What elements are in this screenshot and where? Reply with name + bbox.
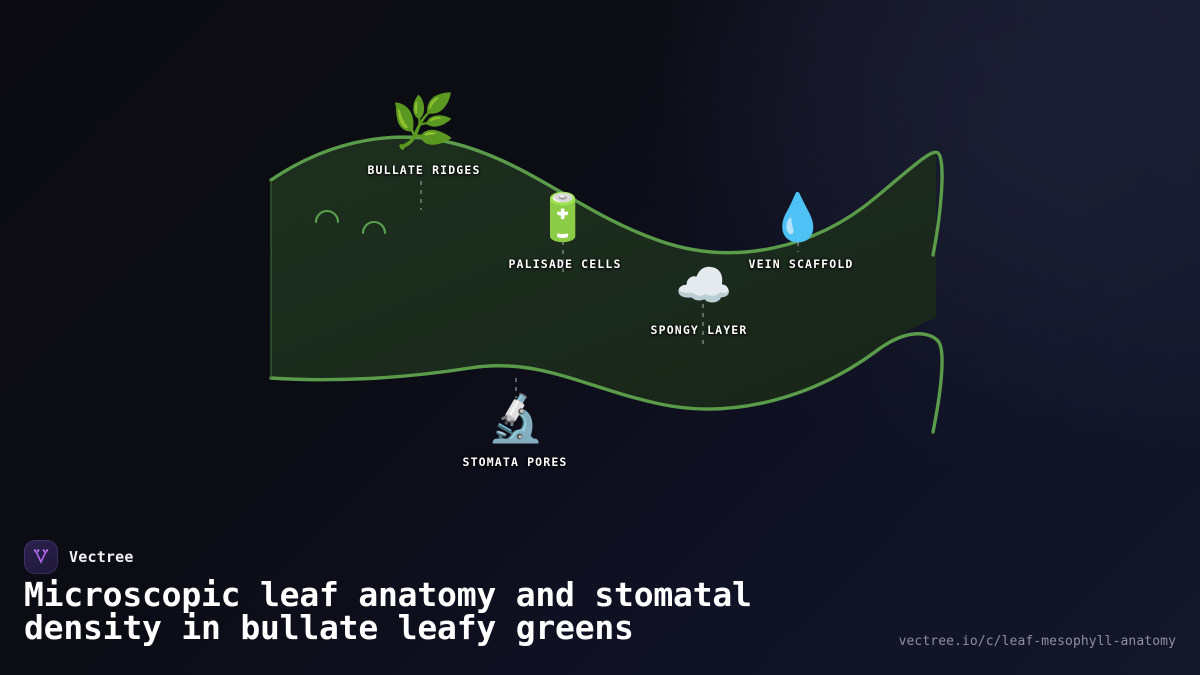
battery-emoji: 🔋 bbox=[534, 194, 591, 240]
page-title: Microscopic leaf anatomy and stomatal de… bbox=[24, 578, 854, 644]
label-spongy-layer: SPONGY LAYER bbox=[651, 323, 748, 337]
leaf-cross-section-illustration: 🌿 🔋 💧 ☁️ 🔬 BULLATE RIDGES PALISADE CELLS… bbox=[0, 0, 1200, 520]
leaf-body-fill bbox=[271, 137, 936, 409]
vectree-v-tree-icon bbox=[24, 540, 58, 574]
label-palisade-cells: PALISADE CELLS bbox=[508, 257, 621, 271]
microscope-emoji: 🔬 bbox=[487, 395, 544, 441]
brand-row: Vectree bbox=[24, 540, 134, 574]
label-stomata-pores: STOMATA PORES bbox=[463, 455, 568, 469]
poster-footer: Vectree Microscopic leaf anatomy and sto… bbox=[0, 520, 1200, 675]
poster-canvas: 🌿 🔋 💧 ☁️ 🔬 BULLATE RIDGES PALISADE CELLS… bbox=[0, 0, 1200, 675]
herb-emoji: 🌿 bbox=[391, 96, 456, 148]
droplet-emoji: 💧 bbox=[769, 194, 826, 240]
vectree-glyph bbox=[31, 547, 51, 567]
brand-name: Vectree bbox=[69, 548, 134, 566]
label-vein-scaffold: VEIN SCAFFOLD bbox=[749, 257, 854, 271]
label-bullate-ridges: BULLATE RIDGES bbox=[367, 163, 480, 177]
source-url: vectree.io/c/leaf-mesophyll-anatomy bbox=[899, 634, 1176, 649]
cloud-emoji: ☁️ bbox=[675, 262, 732, 308]
